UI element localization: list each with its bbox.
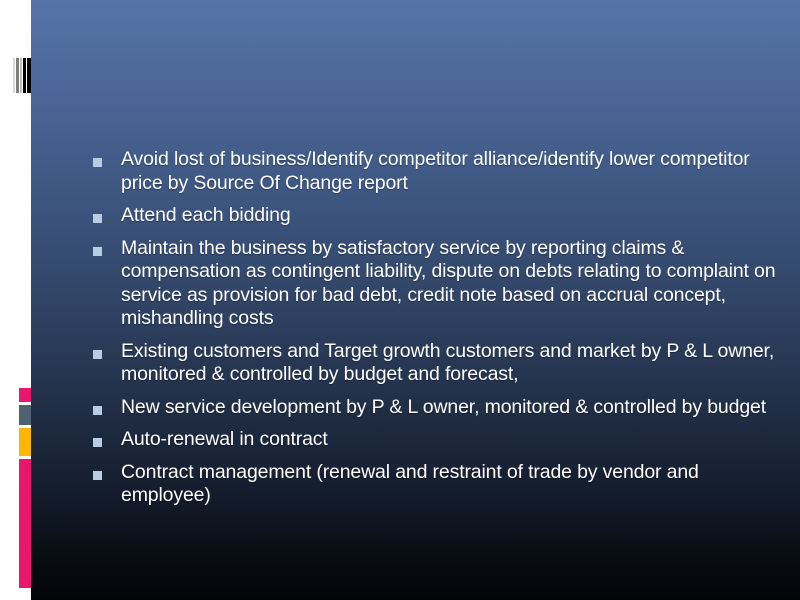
bullet-item-text: Existing customers and Target growth cus… <box>121 340 793 387</box>
bullet-item-text: Contract management (renewal and restrai… <box>121 461 793 508</box>
bullet-item-text: Attend each bidding <box>121 204 793 228</box>
bullet-item-text: Maintain the business by satisfactory se… <box>121 237 793 331</box>
bullet-square-icon <box>93 438 102 447</box>
bullet-square-icon <box>93 350 102 359</box>
slide-body-panel: Avoid lost of business/Identify competit… <box>31 0 800 600</box>
decorative-horizontal-bar <box>19 405 31 425</box>
bottom-decorative-bar-group <box>19 388 31 588</box>
bullet-list-item: Auto-renewal in contract <box>93 428 793 452</box>
bullet-square-icon <box>93 158 102 167</box>
bullet-list-item: Maintain the business by satisfactory se… <box>93 237 793 331</box>
bullet-list: Avoid lost of business/Identify competit… <box>93 148 793 517</box>
bullet-list-item: New service development by P & L owner, … <box>93 396 793 420</box>
bullet-item-text: Auto-renewal in contract <box>121 428 793 452</box>
presentation-slide: Avoid lost of business/Identify competit… <box>0 0 800 600</box>
decorative-horizontal-bar <box>19 459 31 588</box>
bullet-square-icon <box>93 406 102 415</box>
bullet-square-icon <box>93 247 102 256</box>
bullet-item-text: Avoid lost of business/Identify competit… <box>121 148 793 195</box>
bullet-list-item: Contract management (renewal and restrai… <box>93 461 793 508</box>
bullet-list-item: Attend each bidding <box>93 204 793 228</box>
decorative-horizontal-bar <box>19 388 31 402</box>
bullet-square-icon <box>93 471 102 480</box>
bullet-list-item: Avoid lost of business/Identify competit… <box>93 148 793 195</box>
bullet-list-item: Existing customers and Target growth cus… <box>93 340 793 387</box>
bullet-square-icon <box>93 214 102 223</box>
decorative-horizontal-bar <box>19 428 31 456</box>
bullet-item-text: New service development by P & L owner, … <box>121 396 793 420</box>
top-decorative-bar-group <box>13 58 31 93</box>
